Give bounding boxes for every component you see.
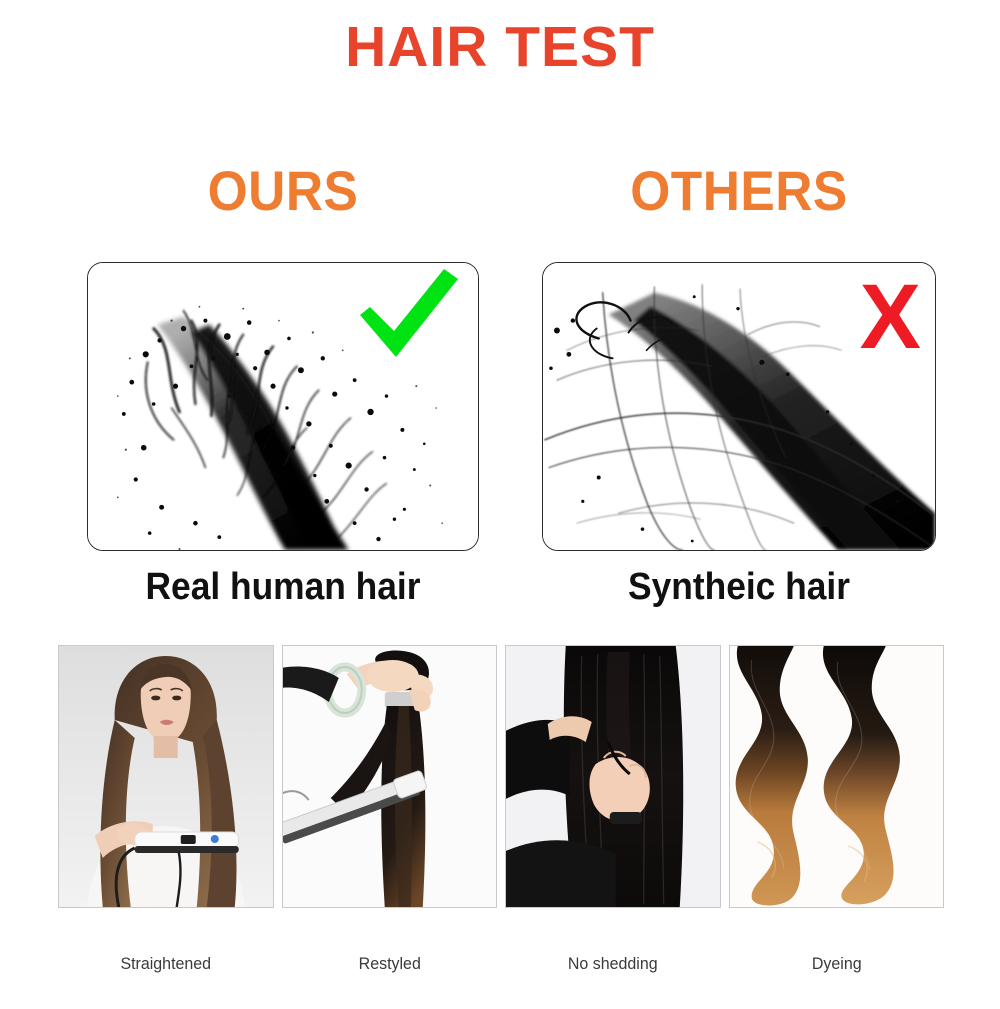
gallery-strip [58, 645, 944, 908]
comparison-box-ours [87, 262, 479, 551]
gallery-caption-straightened: Straightened [64, 952, 267, 982]
comparison-caption-ours: Real human hair [101, 566, 466, 609]
check-mark-icon [352, 265, 464, 361]
gallery-photo-restyled[interactable] [282, 645, 498, 908]
gallery-photo-straightened[interactable] [58, 645, 274, 908]
gallery-photo-no-shedding[interactable] [505, 645, 721, 908]
comparison-caption-others: Syntheic hair [556, 566, 922, 609]
gallery-caption-row: Straightened Restyled No shedding Dyeing [58, 952, 944, 982]
gallery-caption-dyeing: Dyeing [735, 952, 938, 982]
comparison-box-others: X [542, 262, 936, 551]
column-heading-others: OTHERS [558, 158, 920, 223]
gallery-photo-dyeing[interactable] [729, 645, 945, 908]
gallery-caption-restyled: Restyled [288, 952, 491, 982]
page-title: HAIR TEST [0, 18, 1000, 78]
x-mark-icon: X [860, 271, 919, 363]
column-heading-ours: OURS [103, 158, 464, 223]
gallery-caption-no-shedding: No shedding [511, 952, 714, 982]
